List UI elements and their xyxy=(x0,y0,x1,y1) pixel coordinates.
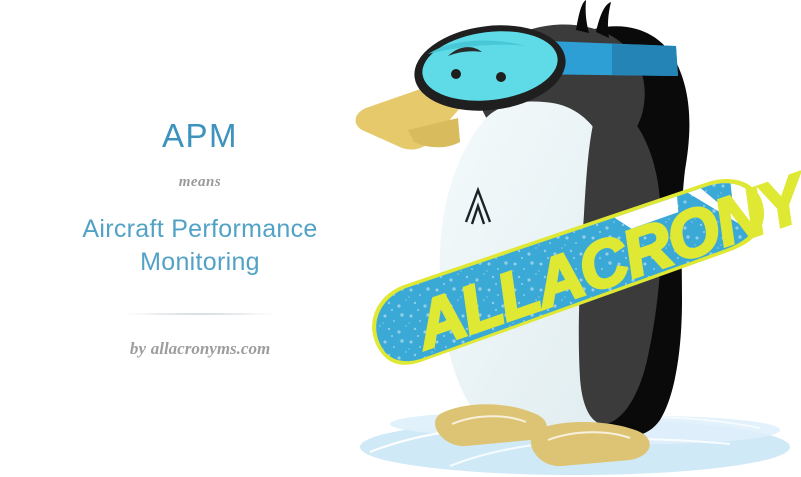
byline-prefix: by xyxy=(130,339,146,358)
section-divider xyxy=(125,313,275,315)
acronym-definition-card: APM means Aircraft Performance Monitorin… xyxy=(0,0,801,477)
expansion-line-2: Monitoring xyxy=(82,246,317,279)
acronym-expansion: Aircraft Performance Monitoring xyxy=(82,213,317,279)
byline-site: allacronyms.com xyxy=(151,339,270,358)
goggle-strap-shadow xyxy=(612,44,678,76)
hair-tuft-left xyxy=(576,0,589,33)
expansion-line-1: Aircraft Performance xyxy=(82,213,317,246)
penguin-eye-left xyxy=(451,69,461,79)
source-byline: by allacronyms.com xyxy=(130,339,270,359)
acronym-title: APM xyxy=(162,119,238,152)
penguin-illustration: ALLACRONYMS xyxy=(330,0,801,477)
connector-label: means xyxy=(179,174,222,191)
penguin-eye-right xyxy=(496,72,506,82)
